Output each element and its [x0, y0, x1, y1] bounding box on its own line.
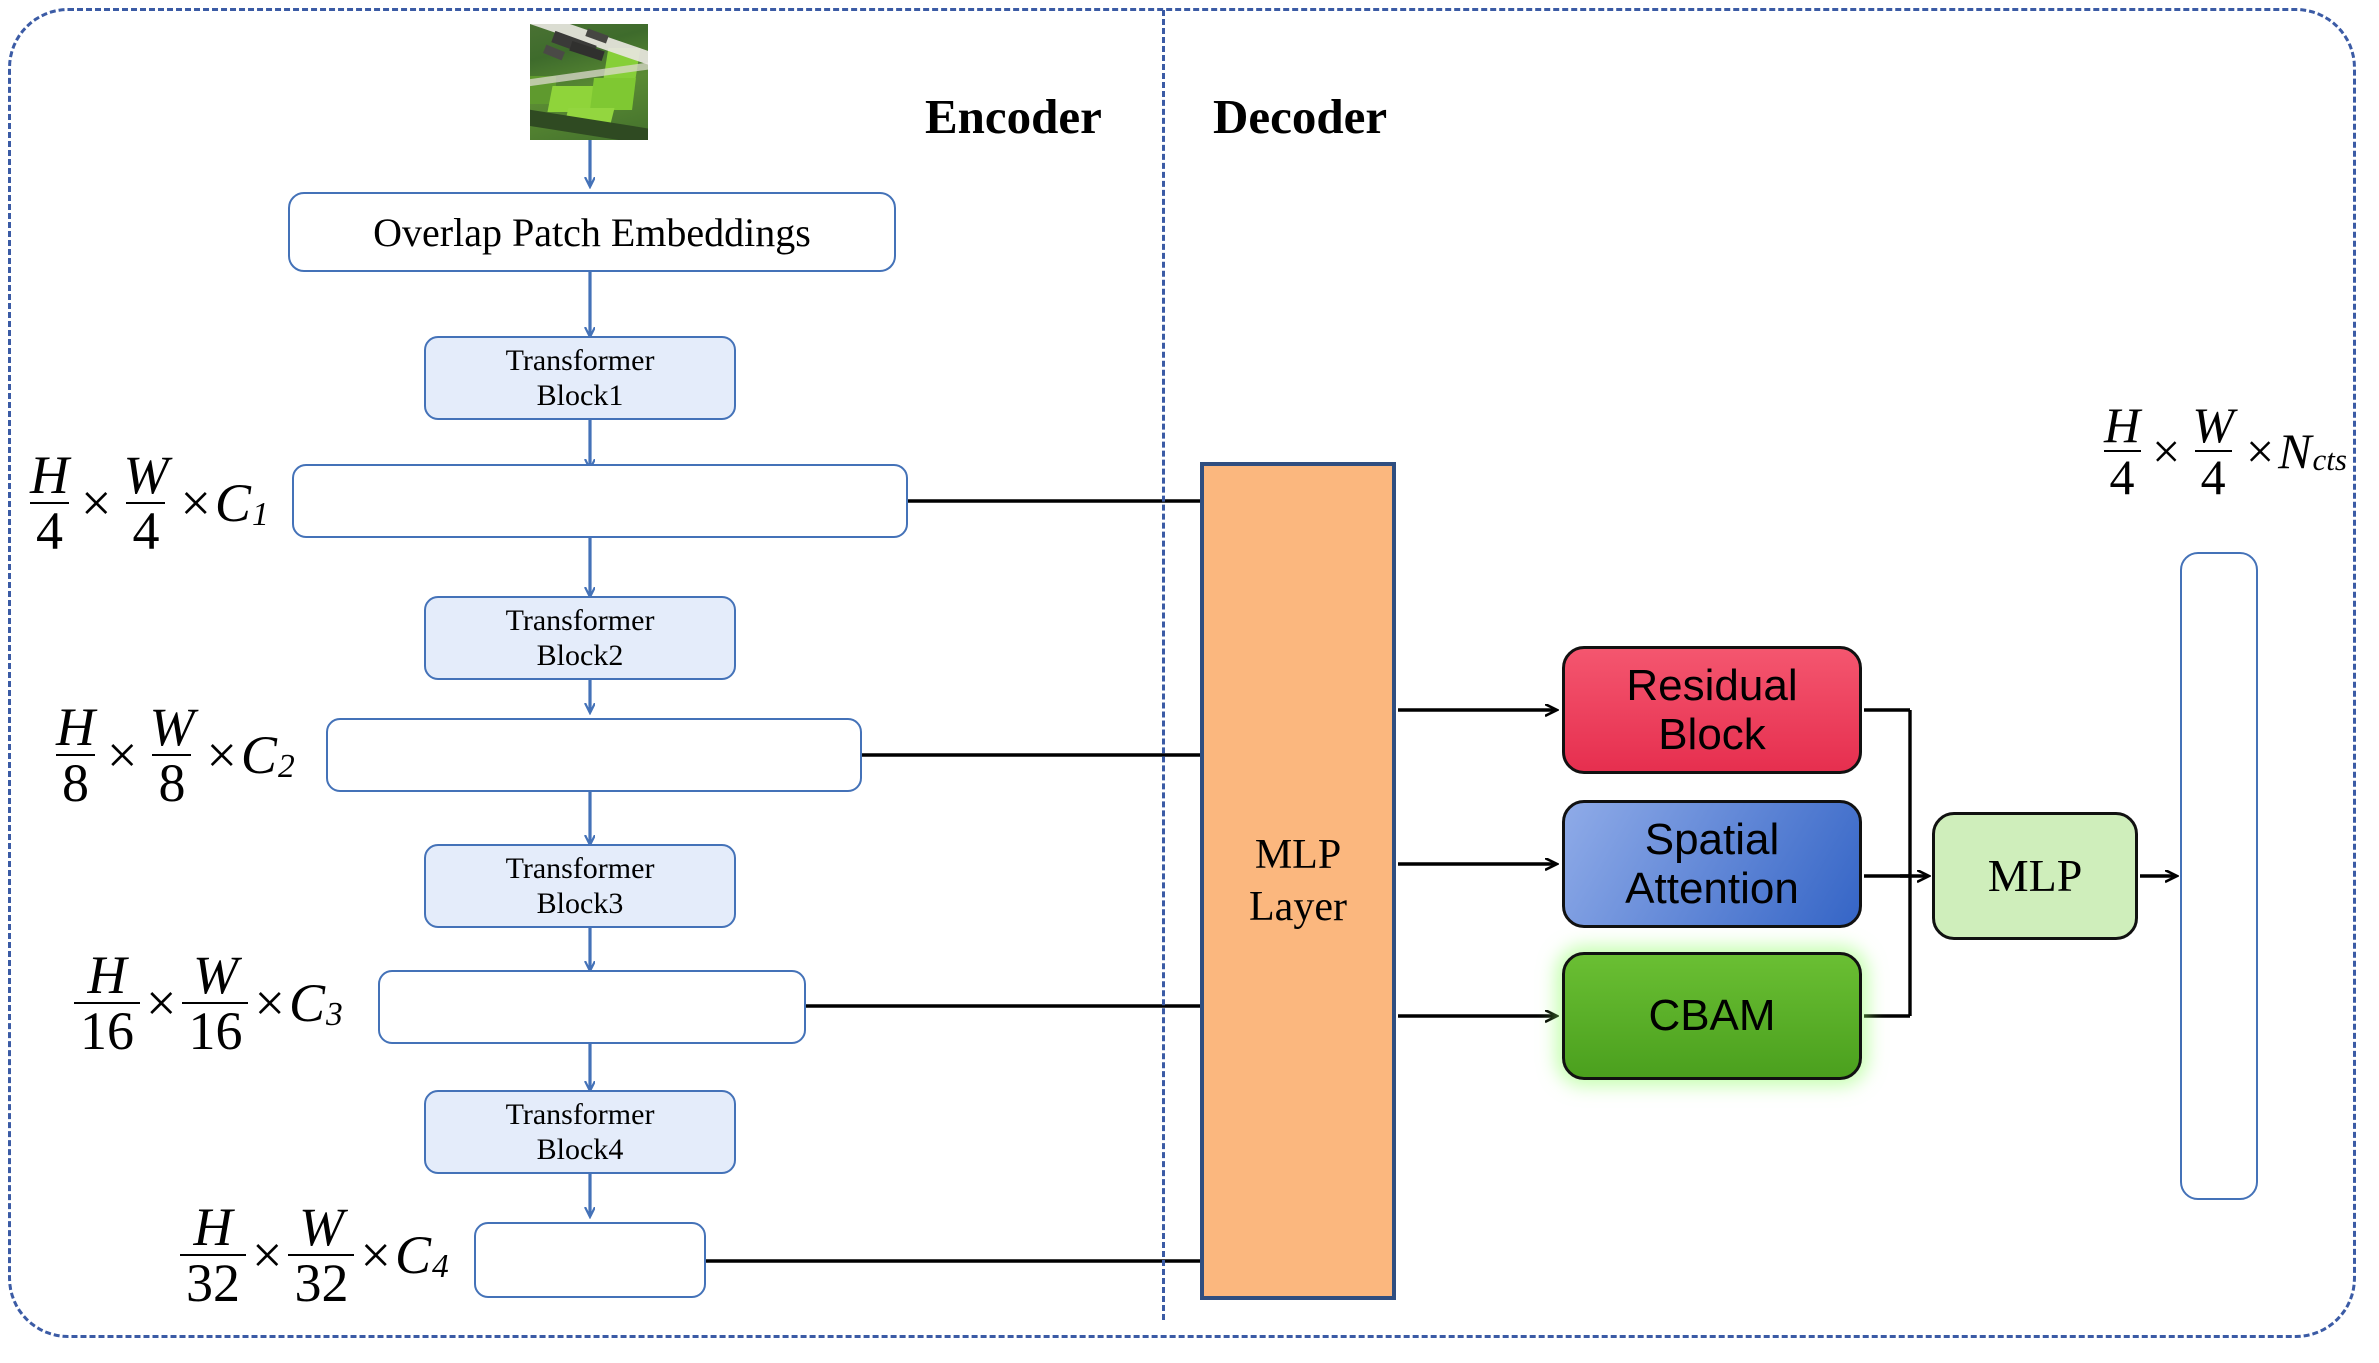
out-h-den: 4: [2104, 450, 2141, 502]
transformer-block-1-line2: Block1: [537, 378, 624, 413]
shape4-h-den: 32: [180, 1254, 246, 1310]
shape2-w-num: W: [143, 700, 200, 754]
shape3-channel: C: [289, 972, 325, 1034]
shape1-channel: C: [215, 472, 251, 534]
feature-shape-label-3: H16 × W16 × C3: [72, 948, 342, 1058]
transformer-block-3-line1: Transformer: [506, 851, 655, 886]
mlp-layer-block[interactable]: MLP Layer: [1200, 462, 1396, 1300]
transformer-block-2-line1: Transformer: [506, 603, 655, 638]
shape1-h-den: 4: [30, 502, 69, 558]
shape4-times-b: ×: [356, 1224, 394, 1286]
shape3-h-den: 16: [74, 1002, 140, 1058]
residual-block[interactable]: Residual Block: [1562, 646, 1862, 774]
shape2-times-a: ×: [103, 724, 141, 786]
feature-shape-label-2: H8 × W8 × C2: [48, 700, 294, 810]
shape4-w-num: W: [293, 1200, 350, 1254]
shape2-h-num: H: [50, 700, 101, 754]
spatial-attention-block[interactable]: Spatial Attention: [1562, 800, 1862, 928]
diagram-canvas: Encoder Decoder Overlap Patch Embeddings…: [0, 0, 2379, 1363]
feature-map-box-2: [326, 718, 862, 792]
cbam-line1: CBAM: [1648, 991, 1775, 1040]
feature-map-box-3: [378, 970, 806, 1044]
shape3-w-num: W: [187, 948, 244, 1002]
spatial-attention-line2: Attention: [1625, 864, 1799, 913]
shape1-w-num: W: [117, 448, 174, 502]
shape4-times-a: ×: [248, 1224, 286, 1286]
transformer-block-1-line1: Transformer: [506, 343, 655, 378]
shape2-w-den: 8: [152, 754, 191, 810]
out-times-a: ×: [2148, 422, 2184, 480]
shape2-channel-sub: 2: [278, 748, 295, 786]
transformer-block-2-line2: Block2: [537, 638, 624, 673]
mlp-layer-line1: MLP: [1255, 829, 1341, 882]
transformer-block-4-line2: Block4: [537, 1132, 624, 1167]
feature-map-box-1: [292, 464, 908, 538]
shape3-channel-sub: 3: [326, 996, 343, 1034]
transformer-block-2[interactable]: Transformer Block2: [424, 596, 736, 680]
shape2-channel: C: [241, 724, 277, 786]
shape1-w-den: 4: [126, 502, 165, 558]
shape2-h-den: 8: [56, 754, 95, 810]
shape3-h-num: H: [82, 948, 133, 1002]
shape1-h-num: H: [24, 448, 75, 502]
out-channel-sub: cts: [2313, 442, 2347, 478]
transformer-block-1[interactable]: Transformer Block1: [424, 336, 736, 420]
overlap-patch-embeddings-block[interactable]: Overlap Patch Embeddings: [288, 192, 896, 272]
shape1-times-a: ×: [77, 472, 115, 534]
out-w-den: 4: [2195, 450, 2232, 502]
transformer-block-3-line2: Block3: [537, 886, 624, 921]
shape3-w-den: 16: [182, 1002, 248, 1058]
input-satellite-image: [530, 24, 648, 140]
decoder-section-title: Decoder: [1213, 88, 1387, 145]
shape4-w-den: 32: [288, 1254, 354, 1310]
shape3-times-a: ×: [142, 972, 180, 1034]
output-shape-label: H4 × W4 × Ncts: [2096, 400, 2346, 502]
feature-shape-label-1: H4 × W4 × C1: [22, 448, 268, 558]
output-feature-box: [2180, 552, 2258, 1200]
transformer-block-4[interactable]: Transformer Block4: [424, 1090, 736, 1174]
residual-block-line2: Block: [1658, 710, 1766, 759]
transformer-block-3[interactable]: Transformer Block3: [424, 844, 736, 928]
feature-map-box-4: [474, 1222, 706, 1298]
residual-block-line1: Residual: [1626, 661, 1797, 710]
shape4-channel: C: [395, 1224, 431, 1286]
shape3-times-b: ×: [250, 972, 288, 1034]
mlp-layer-line2: Layer: [1249, 881, 1347, 934]
shape1-times-b: ×: [176, 472, 214, 534]
mlp-final-block[interactable]: MLP: [1932, 812, 2138, 940]
shape4-h-num: H: [188, 1200, 239, 1254]
out-times-b: ×: [2242, 422, 2278, 480]
encoder-section-title: Encoder: [925, 88, 1102, 145]
shape1-channel-sub: 1: [252, 496, 269, 534]
transformer-block-4-line1: Transformer: [506, 1097, 655, 1132]
out-channel: N: [2278, 422, 2311, 480]
out-w-num: W: [2186, 400, 2240, 450]
shape2-times-b: ×: [202, 724, 240, 786]
spatial-attention-line1: Spatial: [1645, 815, 1780, 864]
feature-shape-label-4: H32 × W32 × C4: [178, 1200, 448, 1310]
encoder-decoder-divider: [1162, 10, 1165, 1320]
mlp-final-label: MLP: [1988, 850, 2083, 902]
shape4-channel-sub: 4: [432, 1248, 449, 1286]
out-h-num: H: [2098, 400, 2146, 450]
overlap-patch-embeddings-label: Overlap Patch Embeddings: [373, 209, 811, 256]
cbam-block[interactable]: CBAM: [1562, 952, 1862, 1080]
